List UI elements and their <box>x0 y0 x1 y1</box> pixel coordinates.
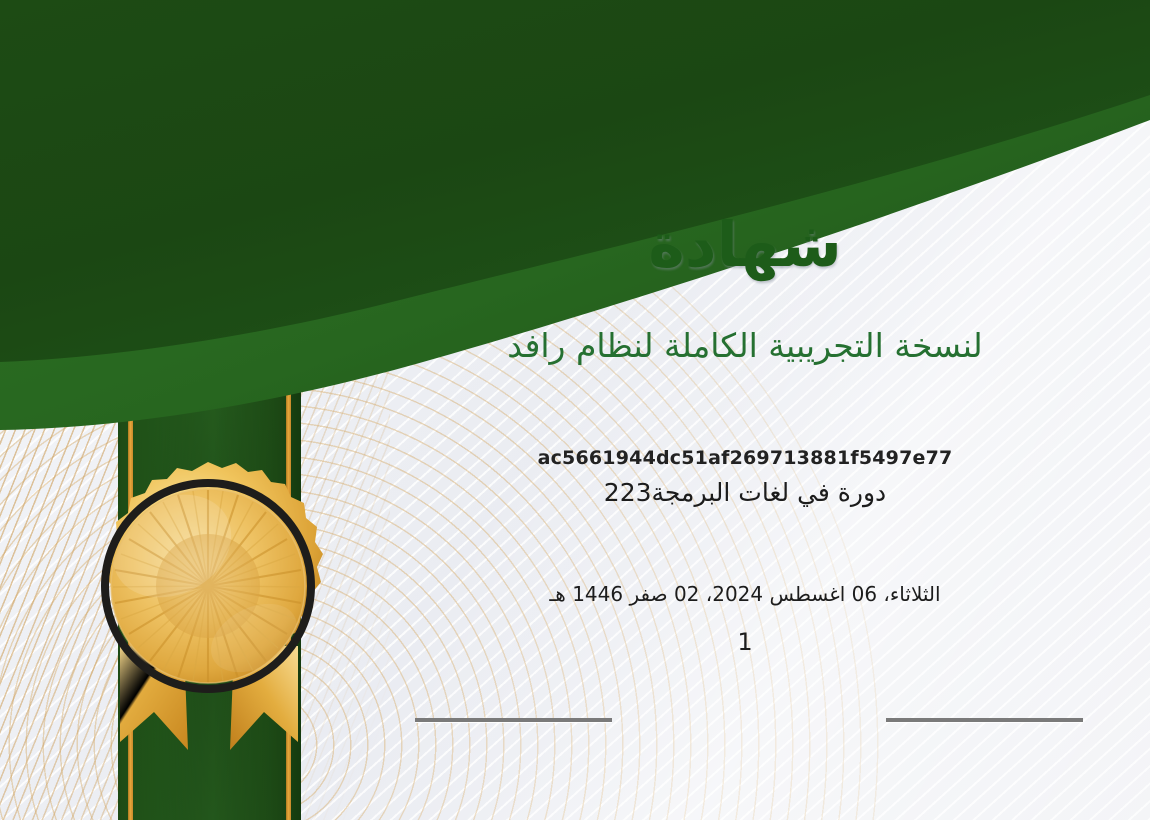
certificate-subtitle: لنسخة التجريبية الكاملة لنظام رافد <box>340 325 1150 368</box>
certificate-date: الثلاثاء، 06 اغسطس 2024، 02 صفر 1446 هـ <box>340 582 1150 606</box>
certificate-course-name: دورة في لغات البرمجة223 <box>340 478 1150 507</box>
award-rosette-icon <box>76 450 341 760</box>
signature-line-right <box>415 718 612 722</box>
certificate-title: شهادة <box>340 214 1150 276</box>
certificate-hash: ac5661944dc51af269713881f5497e77 <box>340 447 1150 469</box>
signature-line-left <box>886 718 1083 722</box>
certificate-canvas: شهادة لنسخة التجريبية الكاملة لنظام رافد… <box>0 0 1150 820</box>
certificate-serial-number: 1 <box>340 628 1150 656</box>
certificate-content: شهادة لنسخة التجريبية الكاملة لنظام رافد… <box>340 0 1150 820</box>
